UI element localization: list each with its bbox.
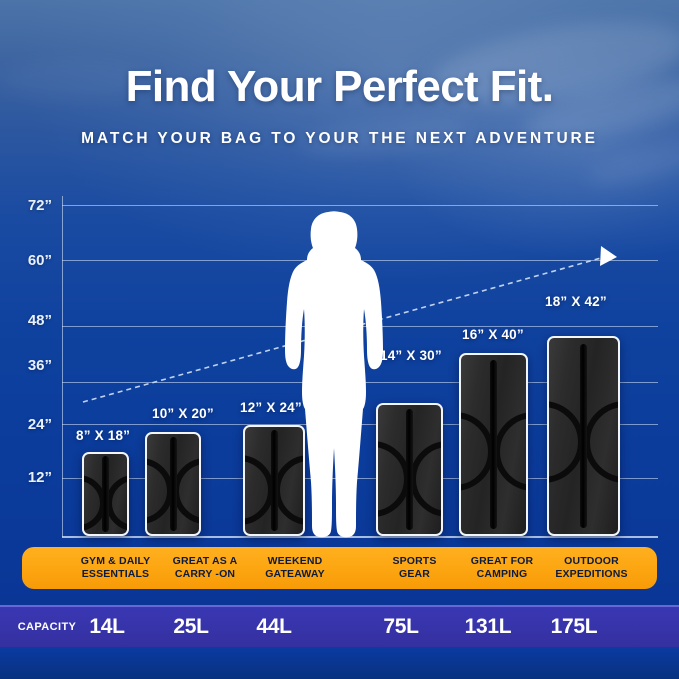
category-line-2: GATEAWAY — [240, 568, 350, 581]
bag-arc-left-icon — [145, 458, 173, 524]
bag-dimension-label: 10” X 20” — [152, 406, 214, 421]
bag-shape[interactable] — [459, 353, 528, 536]
bag-dimension-label: 16” X 40” — [462, 327, 524, 342]
category-line-1: WEEKEND — [240, 555, 350, 568]
bag-strap-icon — [170, 437, 177, 531]
bag-dimension-label: 8” X 18” — [76, 428, 130, 443]
bag-arc-right-icon — [410, 441, 444, 517]
bag-arc-right-icon — [584, 401, 621, 483]
y-tick-24: 24” — [0, 416, 52, 433]
bag-shape[interactable] — [82, 452, 129, 536]
bag-strap-icon — [580, 344, 587, 528]
bag-arc-left-icon — [459, 412, 494, 491]
category-label-3: WEEKEND GATEAWAY — [240, 555, 350, 580]
y-axis-line — [62, 196, 63, 537]
bag-arc-right-icon — [106, 475, 130, 531]
category-label-6: OUTDOOR EXPEDITIONS — [534, 555, 649, 580]
y-tick-60: 60” — [0, 252, 52, 269]
capacity-value-3: 44L — [235, 615, 313, 639]
bag-body — [547, 336, 620, 536]
bag-dimension-label: 18” X 42” — [545, 294, 607, 309]
capacity-value-4: 75L — [362, 615, 440, 639]
bag-shape[interactable] — [547, 336, 620, 536]
y-tick-12: 12” — [0, 469, 52, 486]
y-tick-48: 48” — [0, 312, 52, 329]
bag-body — [459, 353, 528, 536]
bag-strap-icon — [490, 360, 497, 528]
bag-strap-icon — [406, 409, 413, 530]
bag-arc-right-icon — [494, 412, 529, 491]
capacity-value-6: 175L — [532, 615, 616, 639]
bag-shape[interactable] — [145, 432, 201, 536]
bottom-strip — [0, 647, 679, 679]
bag-arc-left-icon — [243, 455, 274, 525]
y-tick-72: 72” — [0, 197, 52, 214]
bag-strap-icon — [102, 456, 109, 531]
human-silhouette-icon — [281, 210, 387, 540]
capacity-value-1: 14L — [68, 615, 146, 639]
bag-dimension-label: 14” X 30” — [380, 348, 442, 363]
capacity-band: CAPACITY 14L 25L 44L 75L 131L 175L — [0, 605, 679, 651]
infographic-canvas: Find Your Perfect Fit. MATCH YOUR BAG TO… — [0, 0, 679, 679]
y-tick-36: 36” — [0, 357, 52, 374]
category-band: GYM & DAILY ESSENTIALS GREAT AS A CARRY … — [22, 547, 657, 589]
bag-arc-left-icon — [547, 401, 584, 483]
capacity-value-5: 131L — [446, 615, 530, 639]
bag-body — [82, 452, 129, 536]
bag-strap-icon — [271, 430, 278, 531]
category-line-2: EXPEDITIONS — [534, 568, 649, 581]
category-line-1: OUTDOOR — [534, 555, 649, 568]
bag-body — [145, 432, 201, 536]
gridline-72 — [62, 205, 658, 206]
bag-arc-right-icon — [173, 458, 201, 524]
capacity-value-2: 25L — [152, 615, 230, 639]
